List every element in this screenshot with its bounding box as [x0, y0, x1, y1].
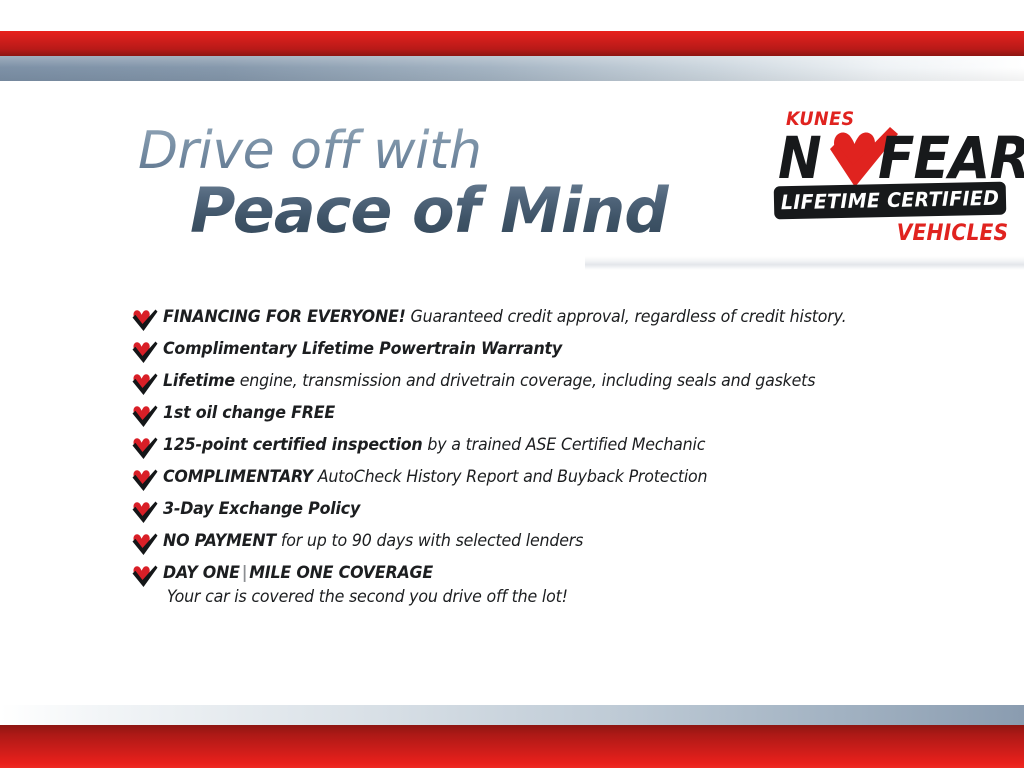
bottom-red-stripe: [0, 725, 1024, 768]
headline-divider: [585, 256, 1024, 270]
benefit-bold: Complimentary Lifetime Powertrain Warran…: [163, 339, 562, 358]
logo-nofear-wordmark: N FEAR: [778, 129, 1014, 187]
benefit-bold: 1st oil change FREE: [163, 403, 335, 422]
benefit-item: NO PAYMENT for up to 90 days with select…: [132, 530, 942, 562]
benefit-text: Complimentary Lifetime Powertrain Warran…: [163, 338, 562, 360]
check-heart-icon: [132, 308, 158, 332]
check-heart-icon: [132, 372, 158, 396]
benefit-text: 3-Day Exchange Policy: [163, 498, 360, 520]
benefit-bold: FINANCING FOR EVERYONE!: [163, 307, 406, 326]
check-heart-icon: [132, 404, 158, 428]
check-heart-icon: [132, 500, 158, 524]
logo-word-fear: FEAR: [878, 129, 1024, 187]
check-heart-icon: [132, 532, 158, 556]
headline-block: Drive off with Peace of Mind: [138, 122, 778, 246]
check-heart-icon: [132, 436, 158, 460]
benefit-item: 1st oil change FREE: [132, 402, 942, 434]
benefit-normal: for up to 90 days with selected lenders: [276, 531, 583, 550]
benefit-item: 3-Day Exchange Policy: [132, 498, 942, 530]
benefit-item: DAY ONE|MILE ONE COVERAGEYour car is cov…: [132, 562, 942, 614]
benefit-text: COMPLIMENTARY AutoCheck History Report a…: [163, 466, 707, 488]
top-decorative-bands: [0, 0, 1024, 82]
benefit-text: Lifetime engine, transmission and drivet…: [163, 370, 815, 392]
benefit-text: FINANCING FOR EVERYONE! Guaranteed credi…: [163, 306, 846, 328]
benefit-bold: COMPLIMENTARY: [163, 467, 313, 486]
benefit-bold: Lifetime: [163, 371, 235, 390]
headline-line-one: Drive off with: [138, 122, 778, 180]
benefit-item: Complimentary Lifetime Powertrain Warran…: [132, 338, 942, 370]
benefit-bold-second: MILE ONE COVERAGE: [249, 563, 433, 582]
benefit-normal: Guaranteed credit approval, regardless o…: [406, 307, 847, 326]
benefit-text: DAY ONE|MILE ONE COVERAGEYour car is cov…: [163, 562, 568, 608]
benefit-item: FINANCING FOR EVERYONE! Guaranteed credi…: [132, 306, 942, 338]
logo-vehicles-text: VEHICLES: [896, 221, 1008, 246]
bottom-gray-stripe: [0, 705, 1024, 725]
benefit-subtext: Your car is covered the second you drive…: [167, 586, 568, 608]
benefits-list: FINANCING FOR EVERYONE! Guaranteed credi…: [132, 306, 942, 614]
benefit-bold: NO PAYMENT: [163, 531, 276, 550]
benefit-bold: DAY ONE: [163, 563, 240, 582]
benefit-normal: AutoCheck History Report and Buyback Pro…: [313, 467, 708, 486]
logo-certified-text: LIFETIME CERTIFIED: [779, 182, 1000, 220]
benefit-item: Lifetime engine, transmission and drivet…: [132, 370, 942, 402]
benefit-bold: 125-point certified inspection: [163, 435, 423, 454]
top-red-stripe: [0, 31, 1024, 56]
benefit-normal: by a trained ASE Certified Mechanic: [423, 435, 706, 454]
benefit-text: 1st oil change FREE: [163, 402, 335, 424]
promotional-banner: Drive off with Peace of Mind KUNES N FEA…: [0, 0, 1024, 768]
kunes-no-fear-logo: KUNES N FEAR LIFETIME CERTIFIED VEHICLES: [772, 108, 1012, 248]
benefit-item: COMPLIMENTARY AutoCheck History Report a…: [132, 466, 942, 498]
bottom-decorative-bands: [0, 690, 1024, 768]
benefit-item: 125-point certified inspection by a trai…: [132, 434, 942, 466]
benefit-bold: 3-Day Exchange Policy: [163, 499, 360, 518]
check-heart-icon: [132, 468, 158, 492]
benefit-normal: engine, transmission and drivetrain cove…: [235, 371, 815, 390]
top-gray-stripe: [0, 56, 1024, 81]
headline-line-two: Peace of Mind: [190, 176, 778, 246]
check-heart-icon: [132, 340, 158, 364]
benefit-text: 125-point certified inspection by a trai…: [163, 434, 705, 456]
benefit-separator: |: [240, 563, 249, 582]
check-heart-icon: [132, 564, 158, 588]
logo-certified-bar: LIFETIME CERTIFIED: [774, 182, 1007, 220]
benefit-text: NO PAYMENT for up to 90 days with select…: [163, 530, 583, 552]
